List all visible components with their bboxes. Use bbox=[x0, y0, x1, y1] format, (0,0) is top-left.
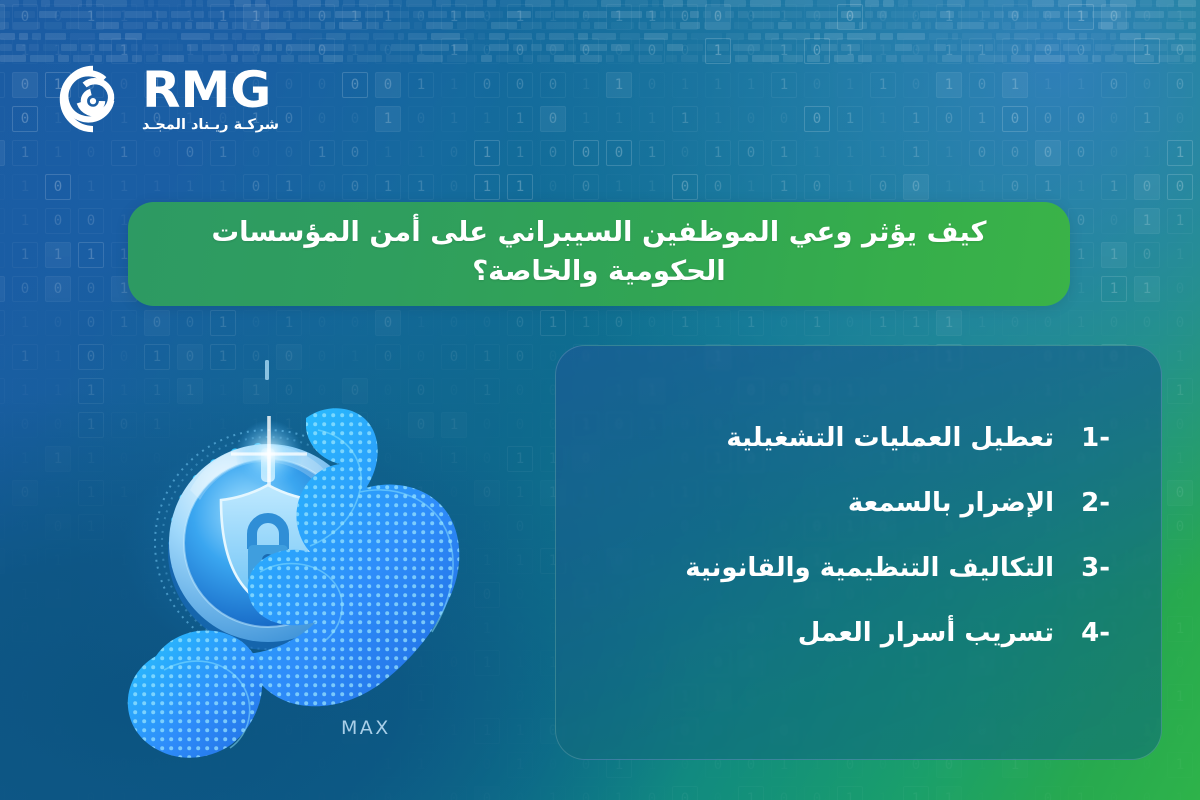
list-item-label: الإضرار بالسمعة bbox=[848, 488, 1054, 518]
list-item: 2- الإضرار بالسمعة bbox=[595, 488, 1110, 553]
brand-logo: RMG شركـة ريـناد المجـد bbox=[58, 54, 338, 144]
brand-name: RMG bbox=[142, 66, 279, 115]
list-item-label: تسريب أسرار العمل bbox=[798, 618, 1054, 648]
impact-list: 1- تعطيل العمليات التشغيلية 2- الإضرار ب… bbox=[555, 345, 1162, 760]
list-item: 3- التكاليف التنظيمية والقانونية bbox=[595, 553, 1110, 618]
list-item-label: التكاليف التنظيمية والقانونية bbox=[685, 553, 1054, 583]
list-item-number: 1- bbox=[1076, 423, 1110, 453]
gauge-max-label: MAX bbox=[341, 717, 391, 739]
list-item-label: تعطيل العمليات التشغيلية bbox=[726, 423, 1054, 453]
security-dial-illustration: MAX bbox=[60, 340, 530, 760]
headline-text: كيف يؤثر وعي الموظفين السيبراني على أمن … bbox=[168, 213, 1030, 291]
list-item-number: 3- bbox=[1076, 553, 1110, 583]
headline-banner: كيف يؤثر وعي الموظفين السيبراني على أمن … bbox=[128, 202, 1070, 306]
list-item-number: 2- bbox=[1076, 488, 1110, 518]
list-item-number: 4- bbox=[1076, 618, 1110, 648]
list-item: 4- تسريب أسرار العمل bbox=[595, 618, 1110, 683]
brand-arabic-name: شركـة ريـناد المجـد bbox=[142, 117, 279, 133]
infographic-canvas: 1001001100001000110110101101111111000001… bbox=[0, 0, 1200, 800]
spiral-target-icon bbox=[58, 64, 128, 134]
list-item: 1- تعطيل العمليات التشغيلية bbox=[595, 423, 1110, 488]
